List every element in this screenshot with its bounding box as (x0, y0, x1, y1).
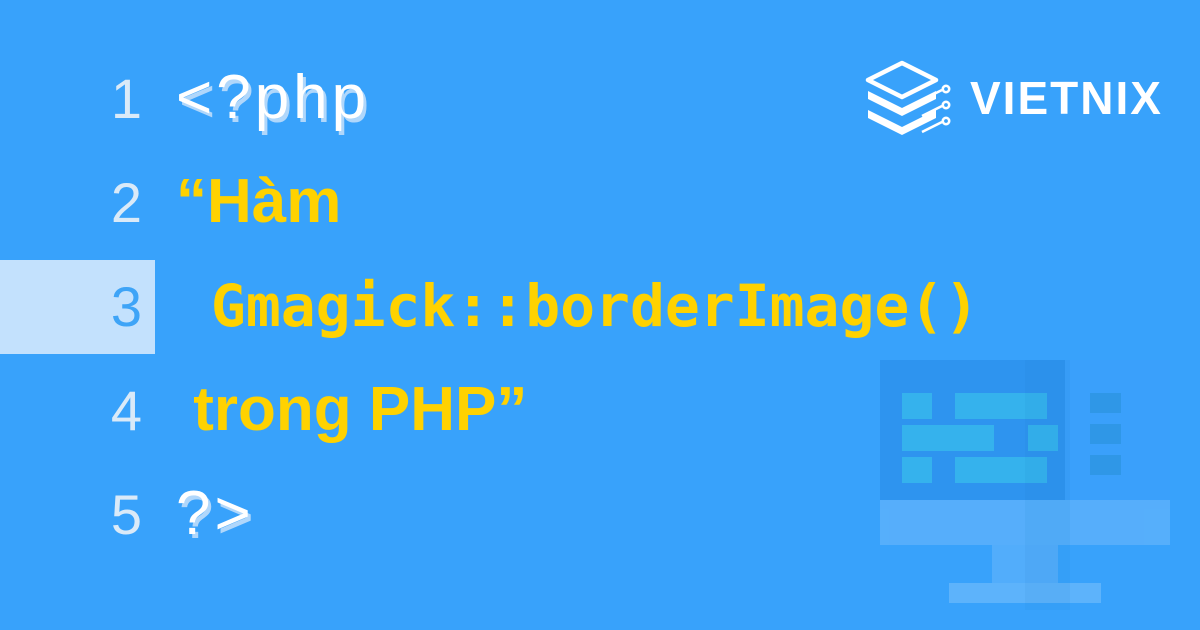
php-function-banner: VIETNIX 1 <?php 2 “Hàm 3 Gmagick::border… (0, 0, 1200, 630)
code-text-5: ?> (176, 462, 255, 566)
line-number-3: 3 (0, 260, 142, 354)
code-block: 1 <?php 2 “Hàm 3 Gmagick::borderImage() … (0, 46, 1200, 566)
code-token-function-name: Gmagick::borderImage() (176, 277, 979, 335)
code-line-1: 1 <?php (0, 46, 1200, 150)
code-token-php-open: <?php (176, 67, 370, 129)
code-text-4: trong PHP” (176, 358, 527, 462)
line-number-1: 1 (0, 52, 142, 146)
code-line-4: 4 trong PHP” (0, 358, 1200, 462)
code-token-php-close: ?> (176, 483, 255, 545)
code-line-5: 5 ?> (0, 462, 1200, 566)
code-text-3: Gmagick::borderImage() (176, 254, 979, 358)
code-token-title-part-1: “Hàm (176, 171, 341, 233)
line-number-2: 2 (0, 156, 142, 250)
code-line-2: 2 “Hàm (0, 150, 1200, 254)
code-line-3: 3 Gmagick::borderImage() (0, 254, 1200, 358)
code-text-2: “Hàm (176, 150, 341, 254)
line-number-5: 5 (0, 468, 142, 562)
code-token-title-part-2: trong PHP” (176, 379, 527, 441)
code-text-1: <?php (176, 46, 370, 150)
line-number-4: 4 (0, 364, 142, 458)
